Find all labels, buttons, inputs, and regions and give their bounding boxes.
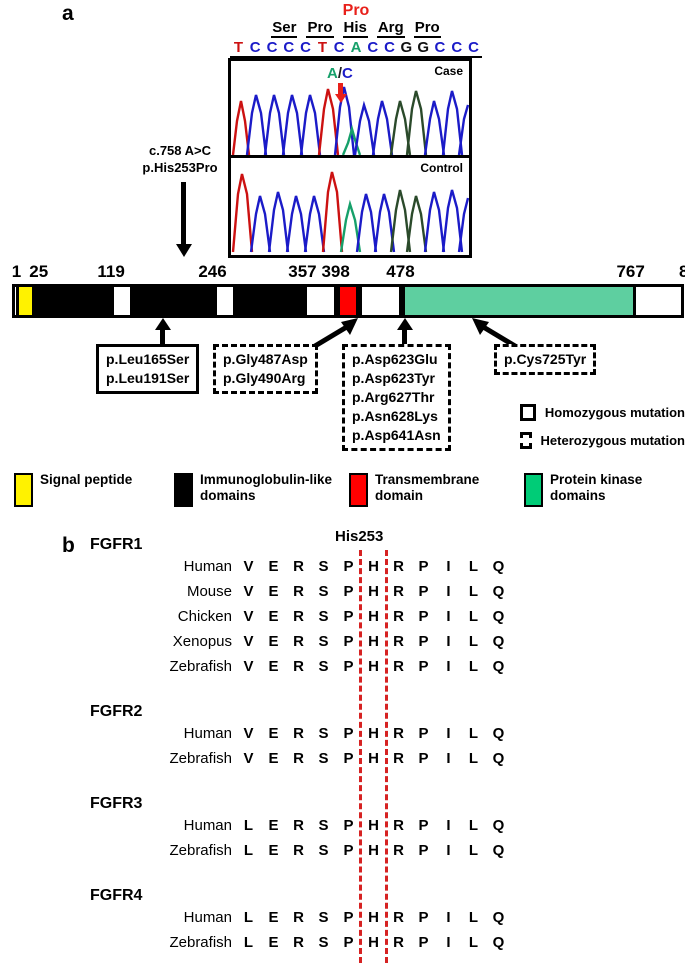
panel-a-letter: a — [62, 2, 74, 26]
alignment-row: VERSPHRPILQ — [236, 725, 511, 742]
nucleotide-7: A — [348, 39, 365, 56]
nucleotide-0: T — [230, 39, 247, 56]
position-marker-478: 478 — [386, 262, 414, 281]
residue: P — [336, 909, 361, 926]
gene-heading-fgfr4: FGFR4 — [90, 887, 142, 905]
nucleotide-2: C — [264, 39, 281, 56]
position-marker-822: 822 — [679, 262, 685, 281]
residue: Q — [486, 817, 511, 834]
domain-legend-item: Immunoglobulin-like domains — [174, 472, 349, 507]
nucleotide-10: G — [398, 39, 415, 56]
zygosity-legend-label: Homozygous mutation — [545, 405, 685, 420]
residue: I — [436, 817, 461, 834]
residue: R — [386, 934, 411, 951]
alignment-row: LERSPHRPILQ — [236, 909, 511, 926]
residue: R — [386, 658, 411, 675]
mutation-box-heterozygous-gly: p.Gly487Aspp.Gly490Arg — [213, 344, 318, 394]
residue: E — [261, 558, 286, 575]
residue: E — [261, 725, 286, 742]
zygosity-legend-label: Heterozygous mutation — [541, 433, 685, 448]
alignment-row: LERSPHRPILQ — [236, 842, 511, 859]
segment-linker-1 — [111, 287, 133, 315]
domain-legend-label: Immunoglobulin-like domains — [200, 472, 343, 504]
residue: I — [436, 608, 461, 625]
residue: R — [286, 750, 311, 767]
position-marker-25: 25 — [29, 262, 48, 281]
residue: P — [411, 909, 436, 926]
residue: V — [236, 608, 261, 625]
variant-protein-label: p.His253Pro — [130, 159, 230, 176]
residue: P — [336, 817, 361, 834]
case-label: Case — [434, 64, 463, 78]
domain-legend-swatch — [349, 473, 368, 507]
codon-label-2: His — [343, 19, 368, 38]
mutation-box-homozygous-ig: p.Leu165Serp.Leu191Ser — [96, 344, 199, 394]
mutation-box-heterozygous-kinase: p.Asp623Glup.Asp623Tyrp.Arg627Thrp.Asn62… — [342, 344, 451, 451]
alignment-row: VERSPHRPILQ — [236, 658, 511, 675]
fgfr1-domain-bar — [12, 284, 684, 318]
residue: E — [261, 583, 286, 600]
residue: E — [261, 608, 286, 625]
residue: S — [311, 725, 336, 742]
allele-a-label: A — [327, 65, 338, 82]
nucleotide-11: G — [415, 39, 432, 56]
chromatogram-case: Case A/C — [231, 61, 469, 158]
nucleotide-3: C — [280, 39, 297, 56]
domain-color-legend: Signal peptideImmunoglobulin-like domain… — [14, 472, 674, 507]
variant-callout: c.758 A>C p.His253Pro — [130, 142, 230, 176]
segment-linker-3 — [304, 287, 337, 315]
alignment-row: LERSPHRPILQ — [236, 817, 511, 834]
residue: P — [411, 608, 436, 625]
species-label: Human — [112, 725, 232, 742]
chromatogram-panel: Case A/C C — [228, 58, 472, 258]
variant-cdna-label: c.758 A>C — [130, 142, 230, 159]
species-label: Zebrafish — [112, 934, 232, 951]
residue: R — [286, 658, 311, 675]
residue: E — [261, 658, 286, 675]
zygosity-legend-row: Heterozygous mutation — [520, 432, 685, 449]
residue: P — [411, 558, 436, 575]
residue: Q — [486, 608, 511, 625]
residue: P — [411, 934, 436, 951]
gene-heading-fgfr1: FGFR1 — [90, 536, 142, 554]
mutation-label: p.Cys725Tyr — [504, 350, 586, 369]
nucleotide-12: C — [432, 39, 449, 56]
allele-c-label: C — [342, 65, 353, 82]
residue: R — [386, 558, 411, 575]
alignment-row: VERSPHRPILQ — [236, 633, 511, 650]
residue: I — [436, 909, 461, 926]
residue: Q — [486, 633, 511, 650]
residue: R — [386, 909, 411, 926]
residue: Q — [486, 725, 511, 742]
domain-legend-swatch — [14, 473, 33, 507]
residue: E — [261, 817, 286, 834]
residue: H — [361, 608, 386, 625]
residue: R — [286, 934, 311, 951]
segment-linker-5 — [636, 287, 681, 315]
residue: P — [336, 633, 361, 650]
residue: P — [336, 583, 361, 600]
residue: R — [286, 583, 311, 600]
residue: P — [411, 658, 436, 675]
mutation-label: p.Asp623Tyr — [352, 369, 441, 388]
his253-highlight-line-right — [385, 550, 388, 963]
residue: L — [461, 608, 486, 625]
species-label: Xenopus — [112, 633, 232, 650]
species-label: Zebrafish — [112, 750, 232, 767]
residue: P — [336, 658, 361, 675]
residue: P — [336, 608, 361, 625]
species-label: Human — [112, 558, 232, 575]
residue: V — [236, 633, 261, 650]
residue: S — [311, 558, 336, 575]
residue: V — [236, 750, 261, 767]
position-marker-1: 1 — [12, 262, 21, 281]
his253-highlight-label: His253 — [335, 528, 383, 545]
residue: L — [461, 725, 486, 742]
nucleotide-13: C — [448, 39, 465, 56]
nucleotide-6: C — [331, 39, 348, 56]
residue: P — [336, 750, 361, 767]
residue: I — [436, 558, 461, 575]
residue: H — [361, 633, 386, 650]
zygosity-legend: Homozygous mutationHeterozygous mutation — [520, 404, 685, 460]
segment-linker-4 — [359, 287, 402, 315]
residue: V — [236, 658, 261, 675]
position-marker-357: 357 — [288, 262, 316, 281]
residue: R — [386, 817, 411, 834]
residue: E — [261, 750, 286, 767]
residue: L — [461, 633, 486, 650]
residue: R — [386, 608, 411, 625]
segment-linker-2 — [214, 287, 236, 315]
species-label: Zebrafish — [112, 842, 232, 859]
domain-legend-item: Signal peptide — [14, 472, 174, 507]
residue: R — [286, 725, 311, 742]
segment-ig-3 — [236, 287, 304, 315]
nucleotide-row: TCCCCTCACCGGCCC — [230, 39, 482, 58]
mutation-label: p.Arg627Thr — [352, 388, 441, 407]
residue: R — [386, 842, 411, 859]
residue: L — [461, 558, 486, 575]
domain-position-ruler: 125119246357398478767822 — [0, 262, 685, 284]
zygosity-key-solid — [520, 404, 536, 421]
residue: P — [411, 842, 436, 859]
residue: S — [311, 934, 336, 951]
position-marker-119: 119 — [97, 262, 124, 281]
residue: I — [436, 934, 461, 951]
codon-label-4: Pro — [414, 19, 441, 38]
nucleotide-4: C — [297, 39, 314, 56]
residue: I — [436, 842, 461, 859]
residue: R — [286, 608, 311, 625]
mutation-label: p.Leu191Ser — [106, 369, 189, 388]
residue: S — [311, 608, 336, 625]
amino-acid-row: SerProHisArgPro — [222, 19, 490, 38]
domain-legend-label: Signal peptide — [40, 472, 132, 488]
residue: E — [261, 633, 286, 650]
residue: R — [386, 583, 411, 600]
nucleotide-5: T — [314, 39, 331, 56]
residue: R — [286, 633, 311, 650]
residue: R — [286, 909, 311, 926]
residue: P — [336, 558, 361, 575]
chromatogram-control: Control — [231, 158, 469, 255]
residue: Q — [486, 750, 511, 767]
residue: P — [336, 842, 361, 859]
mutation-label: p.Asn628Lys — [352, 407, 441, 426]
alignment-row: LERSPHRPILQ — [236, 934, 511, 951]
position-marker-767: 767 — [616, 262, 644, 281]
residue: Q — [486, 583, 511, 600]
residue: Q — [486, 842, 511, 859]
residue: P — [411, 750, 436, 767]
residue: E — [261, 842, 286, 859]
residue: P — [336, 934, 361, 951]
residue: S — [311, 658, 336, 675]
residue: Q — [486, 658, 511, 675]
residue: Q — [486, 909, 511, 926]
residue: I — [436, 633, 461, 650]
zygosity-key-dashed — [520, 432, 532, 449]
species-label: Human — [112, 909, 232, 926]
mutation-box-heterozygous-cys: p.Cys725Tyr — [494, 344, 596, 375]
residue: L — [461, 583, 486, 600]
residue: R — [286, 817, 311, 834]
domain-legend-item: Protein kinase domains — [524, 472, 674, 507]
residue: L — [236, 817, 261, 834]
species-label: Zebrafish — [112, 658, 232, 675]
nucleotide-9: C — [381, 39, 398, 56]
codon-label-1: Pro — [306, 19, 333, 38]
domain-legend-swatch — [174, 473, 193, 507]
domain-legend-label: Protein kinase domains — [550, 472, 668, 504]
alignment-row: VERSPHRPILQ — [236, 608, 511, 625]
residue: H — [361, 909, 386, 926]
residue: V — [236, 583, 261, 600]
residue: S — [311, 817, 336, 834]
nucleotide-1: C — [247, 39, 264, 56]
residue: L — [461, 750, 486, 767]
domain-legend-label: Transmembrane domain — [375, 472, 518, 504]
control-label: Control — [420, 161, 463, 175]
his253-highlight-line-left — [359, 550, 362, 963]
residue: H — [361, 725, 386, 742]
residue: R — [386, 725, 411, 742]
residue: R — [386, 633, 411, 650]
segment-transmembrane — [337, 287, 359, 315]
residue: L — [236, 934, 261, 951]
mutation-label: p.Asp623Glu — [352, 350, 441, 369]
residue: I — [436, 750, 461, 767]
position-marker-246: 246 — [198, 262, 226, 281]
residue: L — [461, 817, 486, 834]
residue: R — [386, 750, 411, 767]
codon-label-3: Arg — [377, 19, 405, 38]
alignment-row: VERSPHRPILQ — [236, 750, 511, 767]
domain-legend-swatch — [524, 473, 543, 507]
residue: V — [236, 725, 261, 742]
residue: S — [311, 633, 336, 650]
residue: L — [236, 842, 261, 859]
residue: H — [361, 658, 386, 675]
mutant-amino-acid-label: Pro — [222, 2, 490, 19]
position-marker-398: 398 — [321, 262, 349, 281]
sequence-header: Pro SerProHisArgPro TCCCCTCACCGGCCC — [222, 2, 490, 58]
residue: P — [411, 633, 436, 650]
residue: L — [461, 909, 486, 926]
residue: H — [361, 558, 386, 575]
residue: L — [461, 842, 486, 859]
residue: S — [311, 750, 336, 767]
zygosity-legend-row: Homozygous mutation — [520, 404, 685, 421]
nucleotide-8: C — [364, 39, 381, 56]
codon-label-0: Ser — [271, 19, 297, 38]
segment-ig-1 — [35, 287, 111, 315]
residue: S — [311, 909, 336, 926]
residue: L — [461, 658, 486, 675]
residue: P — [411, 583, 436, 600]
alignment-row: VERSPHRPILQ — [236, 583, 511, 600]
residue: L — [461, 934, 486, 951]
residue: Q — [486, 934, 511, 951]
residue: S — [311, 842, 336, 859]
residue: P — [411, 725, 436, 742]
residue: R — [286, 842, 311, 859]
segment-ig-2 — [133, 287, 214, 315]
domain-legend-item: Transmembrane domain — [349, 472, 524, 507]
gene-heading-fgfr2: FGFR2 — [90, 703, 142, 721]
species-label: Mouse — [112, 583, 232, 600]
species-label: Human — [112, 817, 232, 834]
residue: I — [436, 583, 461, 600]
mutation-label: p.Asp641Asn — [352, 426, 441, 445]
segment-kinase — [402, 287, 636, 315]
residue: L — [236, 909, 261, 926]
heterozygous-call-label: A/C — [327, 65, 353, 82]
residue: H — [361, 842, 386, 859]
mutation-label: p.Gly487Asp — [223, 350, 308, 369]
residue: H — [361, 934, 386, 951]
mutation-label: p.Gly490Arg — [223, 369, 308, 388]
residue: I — [436, 658, 461, 675]
gene-heading-fgfr3: FGFR3 — [90, 795, 142, 813]
residue: H — [361, 583, 386, 600]
residue: E — [261, 934, 286, 951]
species-label: Chicken — [112, 608, 232, 625]
residue: Q — [486, 558, 511, 575]
residue: P — [336, 725, 361, 742]
residue: E — [261, 909, 286, 926]
nucleotide-14: C — [465, 39, 482, 56]
residue: H — [361, 817, 386, 834]
alignment-row: VERSPHRPILQ — [236, 558, 511, 575]
residue: I — [436, 725, 461, 742]
mutation-label: p.Leu165Ser — [106, 350, 189, 369]
panel-b-letter: b — [62, 534, 75, 558]
residue: V — [236, 558, 261, 575]
residue: R — [286, 558, 311, 575]
residue: H — [361, 750, 386, 767]
residue: S — [311, 583, 336, 600]
residue: P — [411, 817, 436, 834]
segment-signal-peptide — [16, 287, 35, 315]
